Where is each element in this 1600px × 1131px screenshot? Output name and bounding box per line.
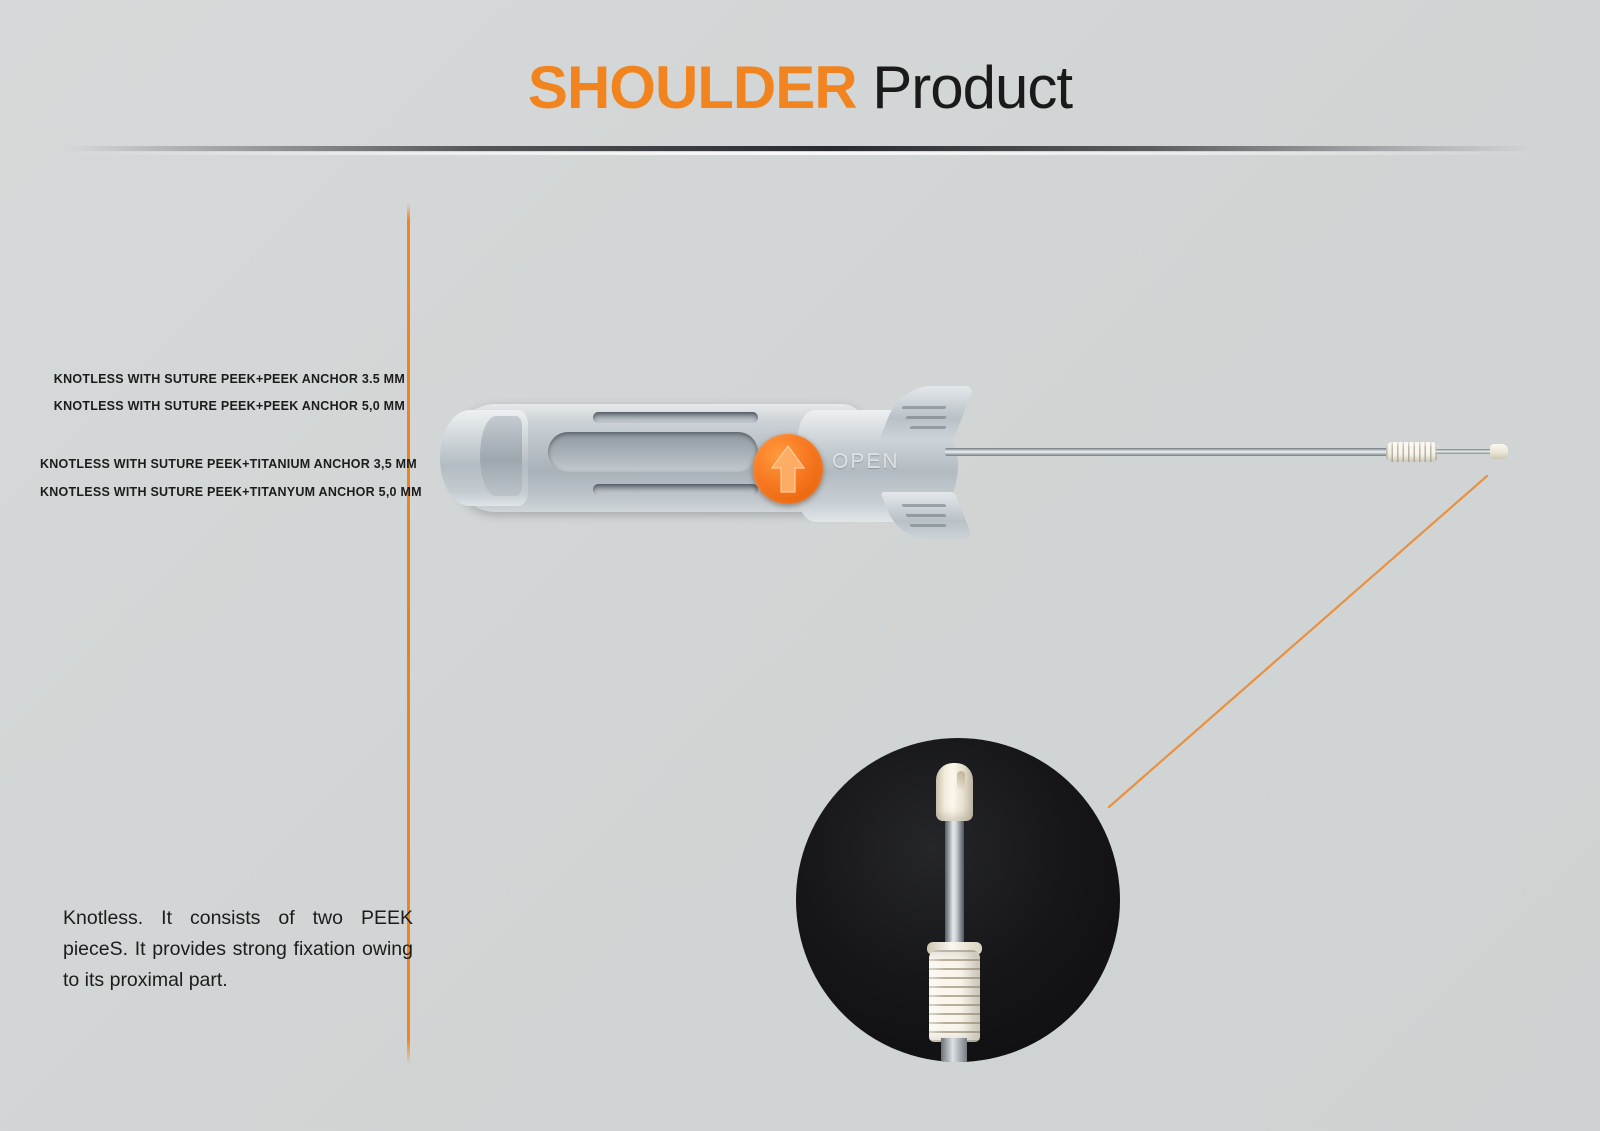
- instrument-image: OPEN: [420, 360, 1540, 555]
- spec-list: KNOTLESS WITH SUTURE PEEK+PEEK ANCHOR 3.…: [40, 372, 405, 499]
- spec-item-peek-peek-35: KNOTLESS WITH SUTURE PEEK+PEEK ANCHOR 3.…: [40, 372, 405, 386]
- up-arrow-icon: [753, 434, 823, 504]
- handle-slot-bottom: [593, 484, 758, 495]
- handle-fin-groove-1: [901, 406, 946, 409]
- magnified-cap-notch: [957, 771, 965, 789]
- release-knob[interactable]: [753, 434, 823, 504]
- magnified-detail-circle: [796, 738, 1120, 1062]
- page-title-brand: SHOULDER: [528, 54, 857, 121]
- handle-fin-groove-3: [909, 426, 946, 429]
- page-title: SHOULDER Product: [0, 50, 1600, 126]
- spec-item-peek-titanium-35: KNOTLESS WITH SUTURE PEEK+TITANIUM ANCHO…: [40, 457, 405, 471]
- spec-item-peek-titanyum-50: KNOTLESS WITH SUTURE PEEK+TITANYUM ANCHO…: [40, 485, 405, 499]
- instrument-handle: OPEN: [428, 372, 958, 537]
- instrument-shaft-tip: [1436, 449, 1494, 454]
- product-description: Knotless. It consists of two PEEK pieceS…: [63, 903, 413, 996]
- anchor-ribbed-section: [1386, 442, 1438, 462]
- handle-fin-groove-6: [909, 524, 946, 527]
- magnified-shaft-lower: [941, 1038, 967, 1062]
- handle-fin-groove-2: [905, 416, 946, 419]
- magnified-anchor-threads: [929, 950, 980, 1042]
- open-label: OPEN: [832, 450, 900, 474]
- handle-fin-top: [879, 386, 975, 440]
- anchor-tip-cap: [1490, 444, 1508, 459]
- header-divider: [68, 146, 1532, 151]
- spec-item-peek-peek-50: KNOTLESS WITH SUTURE PEEK+PEEK ANCHOR 5,…: [40, 399, 405, 413]
- handle-rear-face: [480, 416, 522, 496]
- instrument-shaft: [945, 448, 1390, 456]
- handle-fin-groove-4: [901, 504, 946, 507]
- page-title-word: Product: [857, 54, 1072, 121]
- handle-slot-top: [593, 412, 758, 423]
- header-divider-highlight: [68, 152, 1532, 155]
- handle-fin-groove-5: [905, 514, 946, 517]
- handle-slot-main: [548, 432, 758, 472]
- magnified-anchor-tip-cap: [936, 763, 973, 821]
- poster-canvas: SHOULDER Product KNOTLESS WITH SUTURE PE…: [0, 0, 1600, 1131]
